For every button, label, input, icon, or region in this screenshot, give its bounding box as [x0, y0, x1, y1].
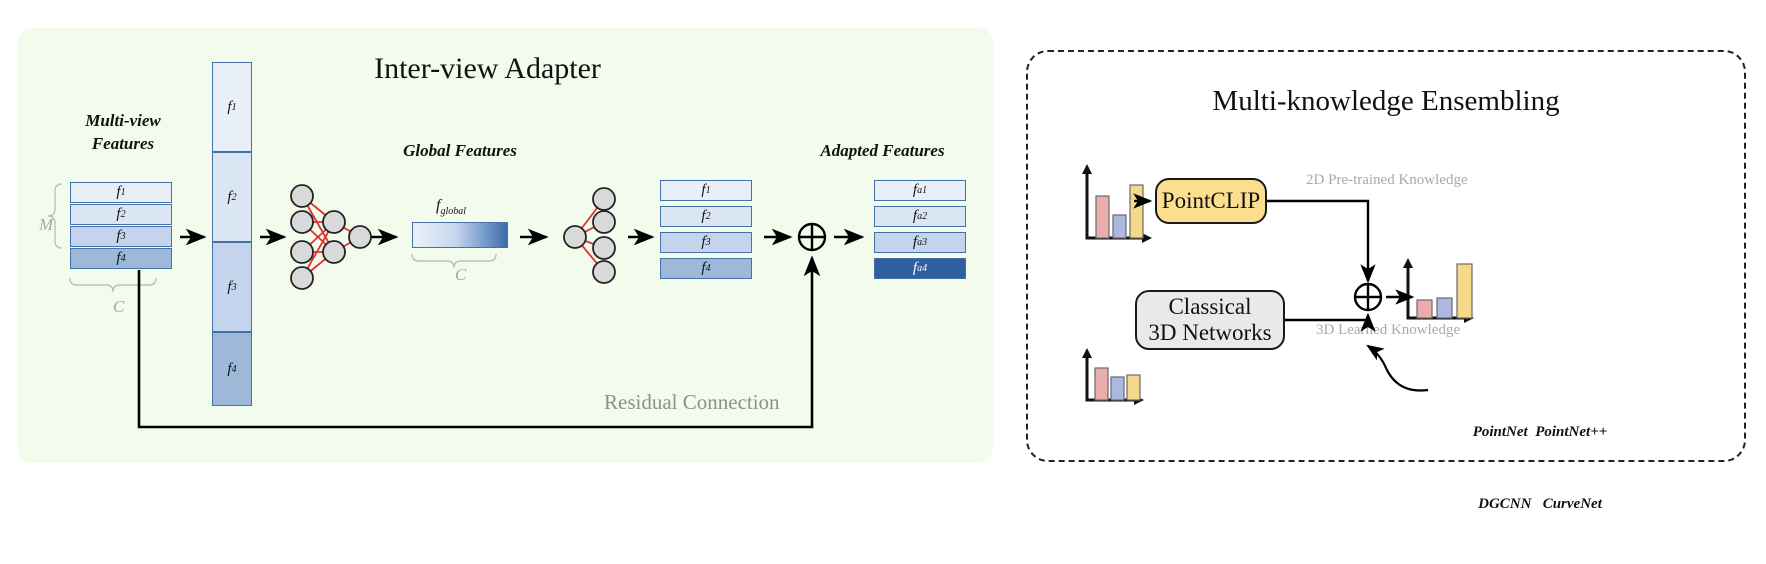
dim-label-c-global: C — [455, 265, 466, 285]
multiview-feature-block: f4 — [70, 248, 172, 269]
global-features-label: Global Features — [370, 140, 550, 163]
page-title: Inter-view Adapter — [0, 52, 975, 86]
mlp-output-feature-block: f2 — [660, 206, 752, 227]
knowledge-3d-label: 3D Learned Knowledge — [1316, 322, 1460, 339]
multiview-features-label: Multi-view Features — [48, 110, 198, 156]
dim-label-m: M — [39, 215, 53, 235]
adapted-feature-block: fa1 — [874, 180, 966, 201]
concat-column-segment: f4 — [212, 332, 252, 406]
right-panel-title: Multi-knowledge Ensembling — [1026, 85, 1746, 118]
mlp-output-feature-block: f3 — [660, 232, 752, 253]
multiview-feature-block: f1 — [70, 182, 172, 203]
mlp-output-feature-block: f4 — [660, 258, 752, 279]
concat-column-segment: f3 — [212, 242, 252, 332]
classical-box-label: Classical 3D Networks — [1148, 294, 1271, 347]
knowledge-2d-label: 2D Pre-trained Knowledge — [1306, 172, 1468, 189]
adapted-feature-block: fa2 — [874, 206, 966, 227]
concat-column-segment: f2 — [212, 152, 252, 242]
multiview-feature-block: f2 — [70, 204, 172, 225]
concat-column-segment: f1 — [212, 62, 252, 152]
multiview-feature-block: f3 — [70, 226, 172, 247]
global-feature-bar — [412, 222, 508, 248]
residual-connection-label: Residual Connection — [604, 390, 780, 415]
adapted-features-label: Adapted Features — [800, 140, 965, 163]
diagram-canvas: Inter-view Adapter Multi-view Features f… — [0, 0, 1766, 550]
network-names-list: PointNet PointNet++ DGCNN CurveNet — [1440, 372, 1640, 564]
classical-3d-networks-box[interactable]: Classical 3D Networks — [1135, 290, 1285, 350]
f-global-label: fglobal — [436, 197, 466, 217]
mlp-output-feature-block: f1 — [660, 180, 752, 201]
adapted-feature-block: fa4 — [874, 258, 966, 279]
pointclip-box[interactable]: PointCLIP — [1155, 178, 1267, 224]
dim-label-c-left: C — [113, 297, 124, 317]
adapted-feature-block: fa3 — [874, 232, 966, 253]
